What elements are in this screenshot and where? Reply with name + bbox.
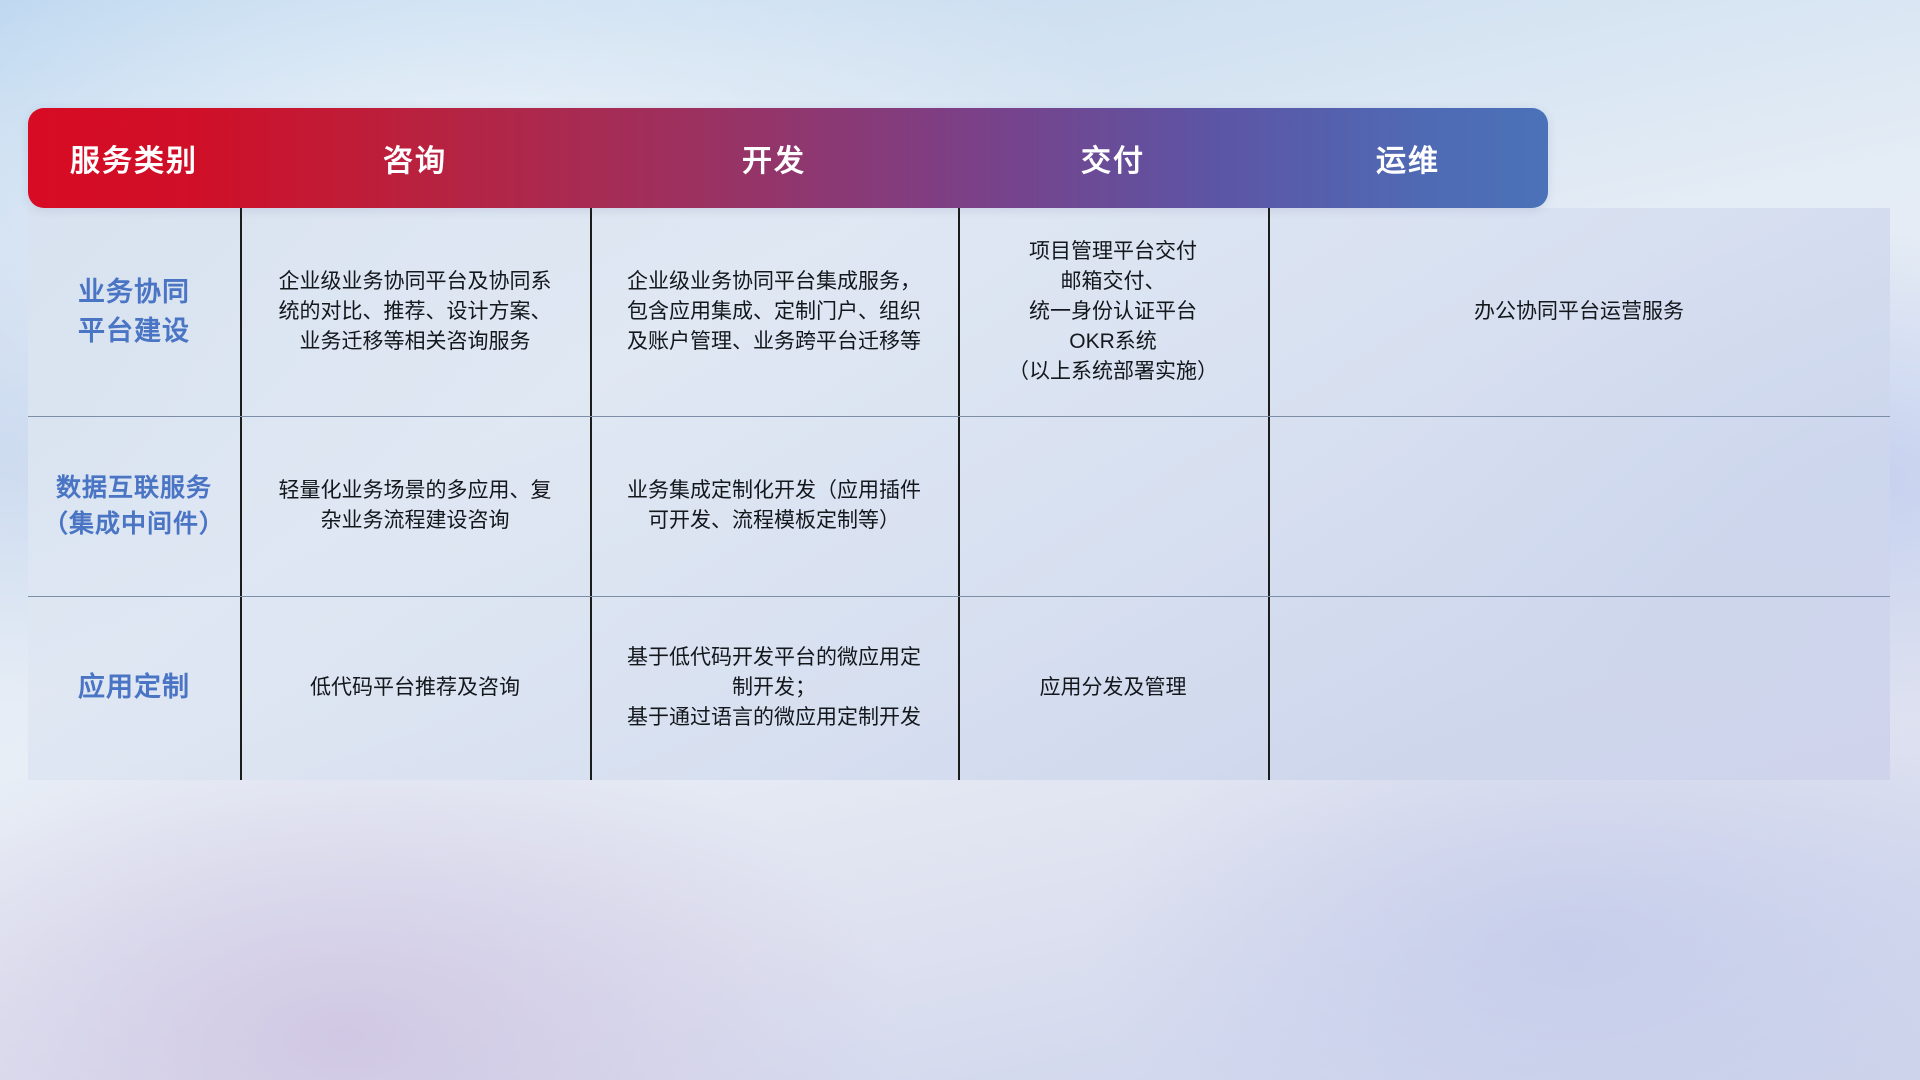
cell-r2-delivery: [958, 416, 1268, 596]
cell-r3-development: 基于低代码开发平台的微应用定 制开发； 基于通过语言的微应用定制开发: [590, 596, 958, 780]
cell-r1-operations: 办公协同平台运营服务: [1268, 208, 1890, 416]
table-body: 业务协同 平台建设 企业级业务协同平台及协同系 统的对比、推荐、设计方案、 业务…: [28, 208, 1890, 780]
header-cell-consulting: 咨询: [240, 136, 590, 180]
row-label-app-customization: 应用定制: [28, 596, 240, 780]
service-category-table: 服务类别 咨询 开发 交付 运维 业务协同 平台建设 企业级业务协同平台及协同系…: [28, 108, 1890, 780]
cell-r3-operations: [1268, 596, 1890, 780]
cell-r1-delivery: 项目管理平台交付 邮箱交付、 统一身份认证平台 OKR系统 （以上系统部署实施）: [958, 208, 1268, 416]
cell-r2-consulting: 轻量化业务场景的多应用、复 杂业务流程建设咨询: [240, 416, 590, 596]
row-label-business-collaboration: 业务协同 平台建设: [28, 208, 240, 416]
header-cell-delivery: 交付: [958, 136, 1268, 180]
row-label-data-interconnect: 数据互联服务 （集成中间件）: [28, 416, 240, 596]
cell-r2-development: 业务集成定制化开发（应用插件 可开发、流程模板定制等）: [590, 416, 958, 596]
header-cell-operations: 运维: [1268, 136, 1548, 180]
header-cell-development: 开发: [590, 136, 958, 180]
table-header-row: 服务类别 咨询 开发 交付 运维: [28, 108, 1548, 208]
header-cell-category: 服务类别: [28, 136, 240, 180]
cell-r1-development: 企业级业务协同平台集成服务， 包含应用集成、定制门户、组织 及账户管理、业务跨平…: [590, 208, 958, 416]
cell-r3-consulting: 低代码平台推荐及咨询: [240, 596, 590, 780]
cell-r1-consulting: 企业级业务协同平台及协同系 统的对比、推荐、设计方案、 业务迁移等相关咨询服务: [240, 208, 590, 416]
cell-r2-operations: [1268, 416, 1890, 596]
cell-r3-delivery: 应用分发及管理: [958, 596, 1268, 780]
